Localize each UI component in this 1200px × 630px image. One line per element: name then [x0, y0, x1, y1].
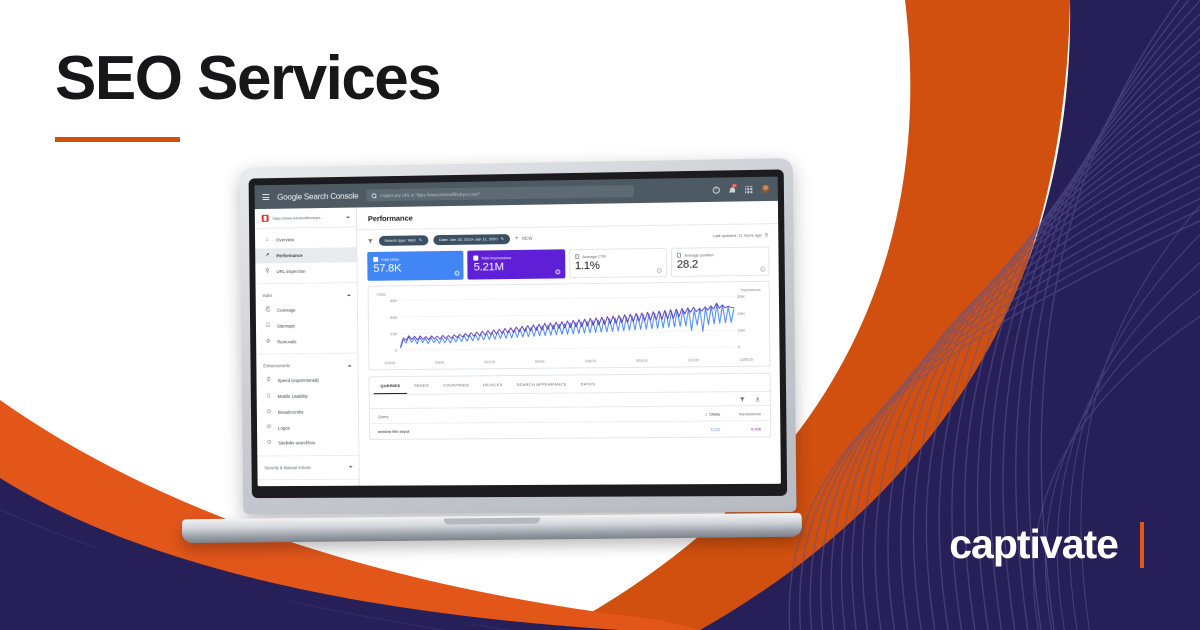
- checkbox-empty-icon: [575, 255, 580, 260]
- pencil-icon: ✎: [419, 238, 423, 243]
- y-tick-label: 450: [390, 299, 397, 303]
- url-inspection-input[interactable]: Inspect any URL in "https://www.windowfi…: [366, 185, 633, 201]
- removals-icon: ⊘: [265, 339, 271, 346]
- x-tick-label: 6/9/19: [535, 360, 544, 364]
- sidebar-item-label: Performance: [276, 253, 302, 258]
- sort-desc-arrow: ↓: [705, 411, 707, 416]
- checkbox-checked-icon: [474, 256, 479, 261]
- chevron-up-icon: [347, 294, 351, 296]
- metric-label: Average position: [684, 253, 713, 258]
- sidebar-item-coverage[interactable]: ⎗ Coverage: [256, 302, 357, 319]
- search-icon: [371, 193, 376, 198]
- sidebar-item-label: Breadcrumbs: [278, 409, 304, 414]
- section-title: Enhancements: [263, 363, 290, 368]
- y2-tick-label: 0: [738, 345, 741, 349]
- sidebar-section-legacy[interactable]: Legacy tools and reports: [258, 483, 359, 486]
- add-filter-button[interactable]: + NEW: [515, 236, 533, 242]
- sidebar-item-sitelinks-searchbox[interactable]: ⊙ Sitelinks searchbox: [257, 435, 358, 451]
- chart-series-impressions: [400, 303, 734, 347]
- checkbox-checked-icon: [373, 257, 378, 262]
- sidebar-item-overview[interactable]: ⌂ Overview: [255, 231, 356, 248]
- brand-lockup: captivate: [949, 521, 1144, 568]
- section-title: Index: [262, 293, 272, 298]
- sidebar-item-mobile-usability[interactable]: ▯ Mobile Usability: [257, 388, 358, 404]
- hamburger-icon[interactable]: [262, 194, 269, 200]
- sidebar-item-label: Removals: [277, 339, 296, 344]
- chevron-down-icon: [349, 466, 353, 468]
- column-header-clicks[interactable]: ↓ Clicks: [680, 411, 721, 416]
- laptop-screen: Google Search Console Inspect any URL in…: [255, 177, 781, 487]
- filter-icon[interactable]: [367, 238, 373, 244]
- sidebar-item-label: Sitelinks searchbox: [278, 441, 315, 446]
- metric-value: 57.8K: [373, 262, 458, 275]
- app-logo-text: Google Search Console: [277, 191, 358, 201]
- table-row[interactable]: window film depot 3,112 4,936: [370, 421, 770, 439]
- content-scroll-area: Search type: Web ✎ Date: Jan 16, 2019–Ja…: [357, 224, 781, 486]
- sitelinks-icon: ⊙: [266, 440, 272, 446]
- pencil-icon: ✎: [501, 237, 505, 242]
- sidebar-item-breadcrumbs[interactable]: ⊙ Breadcrumbs: [257, 404, 358, 420]
- info-icon[interactable]: i: [555, 270, 560, 275]
- sidebar-item-label: Mobile Usability: [278, 394, 308, 399]
- metric-label: Total impressions: [481, 255, 511, 260]
- tab-countries[interactable]: COUNTRIES: [436, 377, 476, 394]
- plus-icon: +: [515, 236, 519, 242]
- document-icon: ⎗: [265, 308, 271, 315]
- tab-queries[interactable]: QUERIES: [373, 377, 407, 394]
- column-header-query: Query: [378, 412, 680, 419]
- property-selector[interactable]: https://www.windowfilmdepo...: [255, 208, 356, 229]
- y2-tick-label: 10K: [737, 328, 745, 332]
- sidebar-security-group: Security & Manual Actions: [257, 455, 358, 479]
- sidebar-item-speed[interactable]: ⏱ Speed (experimental): [256, 373, 357, 389]
- column-header-clicks-label: Clicks: [709, 411, 720, 416]
- x-tick-label: 12/09/19: [740, 358, 753, 362]
- laptop-lid: Google Search Console Inspect any URL in…: [240, 158, 797, 514]
- cell-query: window film depot: [378, 427, 680, 434]
- sidebar: https://www.windowfilmdepo... ⌂ Overview…: [255, 207, 360, 486]
- filter-chip-search-type[interactable]: Search type: Web ✎: [378, 235, 428, 245]
- sidebar-item-label: Sitemaps: [277, 324, 295, 329]
- help-icon[interactable]: ?: [712, 186, 719, 193]
- tab-pages[interactable]: PAGES: [407, 377, 436, 394]
- x-tick-label: 1/16/19: [384, 361, 395, 365]
- chip-label: Date: Jan 16, 2019–Jan 11, 2020: [439, 237, 498, 243]
- sidebar-item-removals[interactable]: ⊘ Removals: [256, 333, 357, 350]
- laptop-mockup: Google Search Console Inspect any URL in…: [182, 163, 802, 538]
- home-icon: ⌂: [264, 237, 270, 244]
- metric-label: Total clicks: [381, 257, 400, 262]
- clock-icon: ⏱: [765, 233, 768, 238]
- filter-icon[interactable]: [739, 396, 745, 402]
- metric-cards: Total clicks 57.8K i Total impressions 5…: [367, 246, 769, 281]
- avatar[interactable]: [761, 185, 770, 194]
- sidebar-item-label: Speed (experimental): [278, 378, 319, 383]
- sidebar-item-label: Coverage: [277, 308, 296, 313]
- x-tick-label: 11/1/19: [688, 359, 699, 363]
- chart-y2label: Impressions: [741, 288, 761, 292]
- property-icon: [262, 215, 269, 222]
- tab-search-appearance[interactable]: SEARCH APPEARANCE: [509, 376, 573, 394]
- top-bar-actions: ? 10: [712, 185, 770, 195]
- metric-card-average-position[interactable]: Average position 28.2 i: [671, 246, 770, 277]
- chart-plot-area: 45030K30020K15010K00: [375, 293, 764, 359]
- tab-dates[interactable]: DATES: [574, 376, 603, 393]
- tab-devices[interactable]: DEVICES: [476, 376, 510, 393]
- main-content: Performance Search type: Web ✎: [357, 201, 781, 486]
- notification-count-badge: 10: [732, 184, 737, 187]
- gridline: [400, 297, 734, 301]
- metric-card-total-impressions[interactable]: Total impressions 5.21M i: [467, 249, 564, 280]
- chart-series-clicks: [400, 304, 734, 348]
- sidebar-enhancements-group: Enhancements ⏱ Speed (experimental) ▯ Mo…: [256, 354, 358, 456]
- y2-tick-label: 20K: [737, 311, 745, 316]
- laptop-base-notch: [444, 518, 540, 525]
- sidebar-primary-group: ⌂ Overview ↗ Performance ⚲ URL inspectio…: [255, 227, 357, 284]
- sidebar-item-sitemaps[interactable]: ☷ Sitemaps: [256, 318, 357, 335]
- sitemap-icon: ☷: [265, 323, 271, 330]
- sidebar-item-logos[interactable]: ◎ Logos: [257, 419, 358, 435]
- sidebar-item-performance[interactable]: ↗ Performance: [255, 247, 356, 264]
- sidebar-section-enhancements[interactable]: Enhancements: [256, 358, 357, 374]
- brand-accent-bar: [1140, 522, 1144, 568]
- y2-tick-label: 30K: [737, 295, 745, 300]
- sidebar-item-url-inspection[interactable]: ⚲ URL inspection: [255, 263, 356, 280]
- download-icon[interactable]: [755, 396, 761, 402]
- last-updated-label: Last updated: 11 hours ago: [713, 233, 762, 239]
- checkbox-empty-icon: [677, 253, 682, 258]
- breadcrumbs-icon: ⊙: [266, 409, 272, 415]
- info-icon[interactable]: i: [454, 271, 459, 276]
- metric-label: Average CTR: [582, 254, 606, 259]
- chevron-up-icon: [348, 364, 352, 366]
- metric-value: 28.2: [677, 258, 764, 271]
- search-icon: ⚲: [264, 268, 270, 275]
- metric-card-average-ctr[interactable]: Average CTR 1.1% i: [569, 248, 667, 279]
- info-icon[interactable]: i: [760, 267, 765, 272]
- metric-value: 5.21M: [474, 261, 559, 274]
- chip-label: Search type: Web: [384, 238, 415, 243]
- sidebar-section-index[interactable]: Index: [256, 287, 357, 303]
- x-tick-label: 3/5/19: [435, 361, 444, 365]
- url-inspection-placeholder: Inspect any URL in "https://www.windowfi…: [380, 191, 480, 198]
- sidebar-legacy-group: Legacy tools and reports: [258, 479, 359, 486]
- apps-grid-icon[interactable]: [745, 186, 752, 193]
- mobile-icon: ▯: [265, 393, 271, 399]
- metric-card-total-clicks[interactable]: Total clicks 57.8K i: [367, 250, 464, 281]
- chart-ylabel: Clicks: [377, 293, 387, 297]
- x-tick-label: 9/16/19: [636, 359, 647, 363]
- cell-impressions: 4,936: [720, 426, 761, 431]
- last-updated-status: Last updated: 11 hours ago ⏱: [713, 233, 768, 239]
- column-header-impressions[interactable]: Impressions: [720, 411, 761, 416]
- x-tick-label: 4/22/19: [484, 360, 495, 364]
- info-icon[interactable]: i: [657, 268, 662, 273]
- gridline: [401, 347, 735, 350]
- chevron-down-icon: [346, 216, 350, 218]
- hero-text-block: SEO Services: [55, 48, 440, 142]
- brand-name: captivate: [949, 521, 1118, 568]
- speed-icon: ⏱: [265, 378, 271, 384]
- dimension-table-card: QUERIESPAGESCOUNTRIESDEVICESSEARCH APPEA…: [368, 373, 771, 440]
- sidebar-index-group: Index ⎗ Coverage ☷ Sitemaps: [256, 283, 358, 355]
- property-url-label: https://www.windowfilmdepo...: [272, 215, 342, 221]
- y-tick-label: 150: [390, 332, 397, 336]
- sidebar-item-label: Logos: [278, 425, 290, 430]
- y-tick-label: 300: [390, 315, 397, 319]
- filter-chip-date[interactable]: Date: Jan 16, 2019–Jan 11, 2020 ✎: [433, 234, 510, 245]
- performance-chart-card: Clicks Impressions 45030K30020K15010K00 …: [368, 281, 771, 371]
- y-tick-label: 0: [395, 349, 397, 353]
- search-console-app: Google Search Console Inspect any URL in…: [255, 177, 781, 487]
- performance-page-title: Performance: [368, 208, 768, 223]
- x-tick-label: 7/28/19: [585, 360, 596, 364]
- sidebar-item-label: URL inspection: [276, 269, 305, 274]
- performance-icon: ↗: [264, 253, 270, 260]
- sidebar-section-security[interactable]: Security & Manual Actions: [257, 459, 358, 474]
- title-underline-rule: [55, 137, 180, 142]
- laptop-bezel: Google Search Console Inspect any URL in…: [249, 169, 788, 498]
- section-title: Security & Manual Actions: [264, 465, 311, 470]
- cell-clicks: 3,112: [680, 427, 721, 432]
- logos-icon: ◎: [266, 425, 272, 431]
- sidebar-item-label: Overview: [276, 238, 294, 243]
- metric-value: 1.1%: [575, 259, 661, 272]
- page-title: SEO Services: [55, 48, 440, 110]
- new-filter-label: NEW: [522, 236, 533, 241]
- bell-icon[interactable]: 10: [728, 185, 735, 193]
